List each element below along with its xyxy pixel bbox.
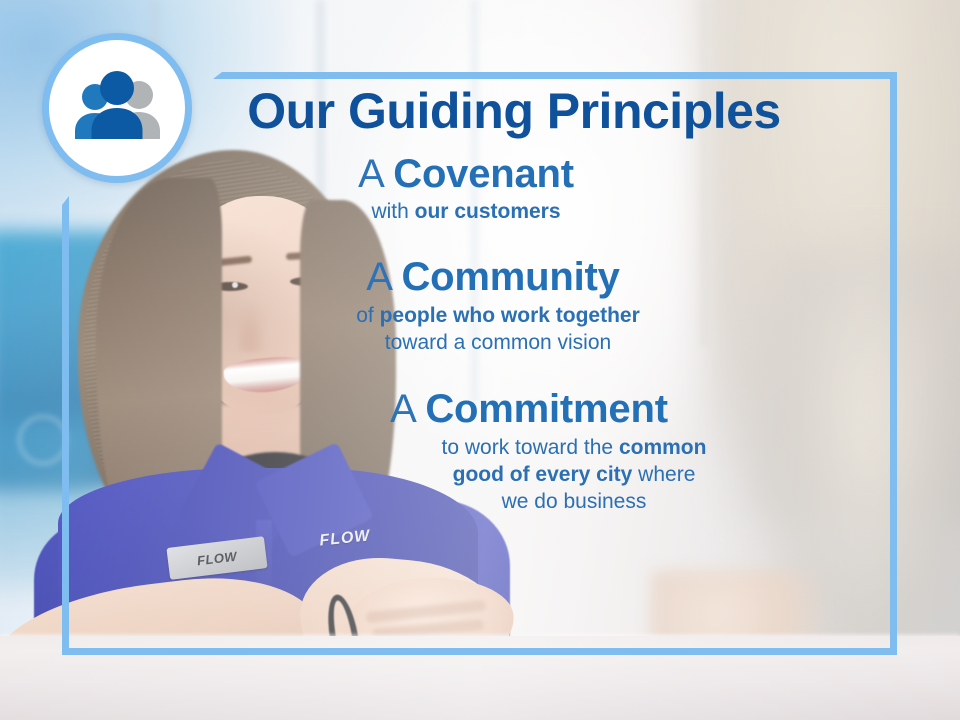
name-badge-label: FLOW — [196, 549, 238, 567]
woman-eye-highlight — [232, 282, 238, 288]
frame-border-bottom — [62, 648, 897, 655]
frame-border-right — [890, 72, 897, 655]
frame-border-left — [62, 196, 69, 655]
woman-nose — [238, 300, 268, 352]
frame-border-top — [213, 72, 897, 79]
window-mullion — [470, 0, 479, 403]
blurred-car-emblem — [18, 415, 68, 465]
guiding-principles-graphic: FLOW FLOW — [0, 0, 960, 720]
people-group-icon — [65, 69, 169, 147]
people-group-badge — [42, 33, 192, 183]
